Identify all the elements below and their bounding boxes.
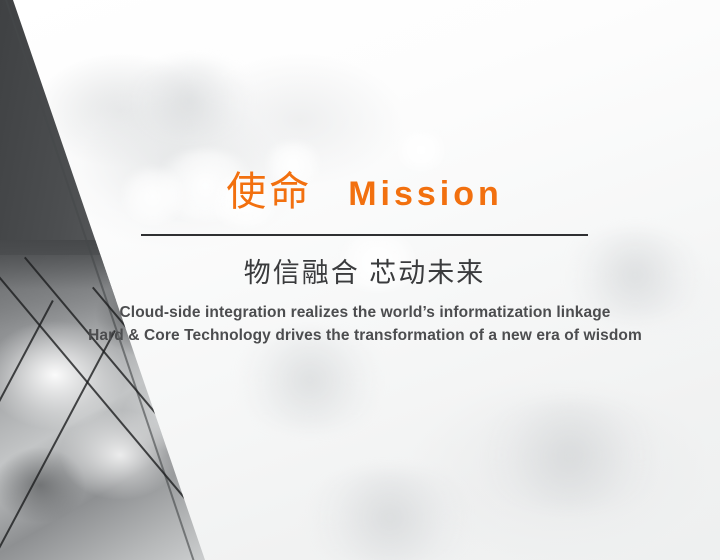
page-title: 使命 Mission <box>141 172 588 212</box>
page-title-chinese: 使命 <box>226 172 312 212</box>
page-title-english: Mission <box>348 177 503 211</box>
title-divider <box>141 234 588 236</box>
mission-statement: Cloud-side integration realizes the worl… <box>60 301 670 347</box>
mission-line: Hard & Core Technology drives the transf… <box>60 324 670 347</box>
banner-content: 使命 Mission 物信融合 芯动未来 Cloud-side integrat… <box>0 0 720 560</box>
subtitle-chinese: 物信融合 芯动未来 <box>141 256 588 291</box>
mission-line: Cloud-side integration realizes the worl… <box>60 301 670 324</box>
mission-banner: 使命 Mission 物信融合 芯动未来 Cloud-side integrat… <box>0 0 720 560</box>
